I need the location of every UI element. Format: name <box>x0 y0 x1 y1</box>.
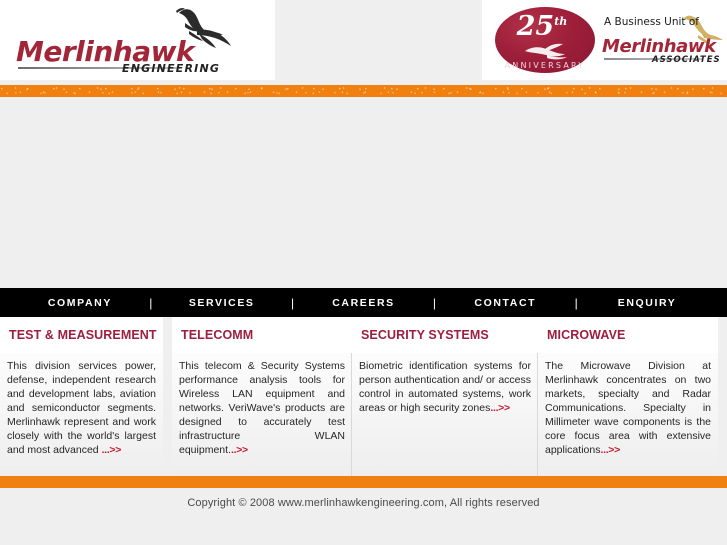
division-description: This telecom & Security Systems performa… <box>172 353 352 476</box>
read-more-link[interactable]: ...>> <box>490 402 510 414</box>
banner-area <box>0 97 727 288</box>
division-description: This division services power, defense, i… <box>0 353 163 476</box>
read-more-link[interactable]: ...>> <box>600 444 620 456</box>
division-description: Biometric identification systems for per… <box>352 353 538 476</box>
division-card-telecomm[interactable]: TELECOMM This telecom & Security Systems… <box>172 317 352 476</box>
nav-separator: | <box>571 296 581 310</box>
main-navigation: COMPANY | SERVICES | CAREERS | CONTACT |… <box>0 288 727 317</box>
division-description: The Microwave Division at Merlinhawk con… <box>538 353 718 476</box>
division-card-security-systems[interactable]: SECURITY SYSTEMS Biometric identificatio… <box>352 317 538 476</box>
division-text: This telecom & Security Systems performa… <box>179 360 345 456</box>
merlinhawk-associates-logo[interactable]: 25th ANNIVERSARY <box>482 0 727 80</box>
copyright-text: Copyright © 2008 www.merlinhawkengineeri… <box>0 488 727 509</box>
division-title: SECURITY SYSTEMS <box>352 317 538 353</box>
column-gap <box>163 317 172 476</box>
page-header: Merlinhawk ENGINEERING 25th ANNIVERSARY <box>0 0 727 85</box>
read-more-link[interactable]: ..>> <box>231 444 248 456</box>
nav-separator: | <box>146 296 156 310</box>
top-orange-divider <box>0 85 727 97</box>
nav-separator: | <box>288 296 298 310</box>
division-title: TELECOMM <box>172 317 352 353</box>
business-unit-text: A Business Unit of <box>604 16 699 28</box>
nav-item-contact[interactable]: CONTACT <box>439 297 571 309</box>
division-wordmark: ENGINEERING <box>122 62 220 75</box>
anniversary-number: 25th <box>517 13 568 40</box>
nav-item-careers[interactable]: CAREERS <box>298 297 430 309</box>
bottom-orange-divider <box>0 476 727 488</box>
division-title: TEST & MEASUREMENT <box>0 317 163 353</box>
nav-item-enquiry[interactable]: ENQUIRY <box>581 297 713 309</box>
anniversary-label: ANNIVERSARY <box>495 61 595 70</box>
read-more-link[interactable]: ...>> <box>102 444 122 456</box>
nav-separator: | <box>429 296 439 310</box>
division-title: MICROWAVE <box>538 317 718 353</box>
nav-item-services[interactable]: SERVICES <box>156 297 288 309</box>
merlinhawk-engineering-logo[interactable]: Merlinhawk ENGINEERING <box>0 0 275 80</box>
anniversary-ordinal: th <box>554 15 567 28</box>
page-footer: Copyright © 2008 www.merlinhawkengineeri… <box>0 488 727 541</box>
division-columns: TEST & MEASUREMENT This division service… <box>0 317 727 476</box>
anniversary-badge: 25th ANNIVERSARY <box>495 7 595 73</box>
division-text: The Microwave Division at Merlinhawk con… <box>545 360 711 456</box>
associates-division-wordmark: ASSOCIATES <box>652 55 721 65</box>
division-card-microwave[interactable]: MICROWAVE The Microwave Division at Merl… <box>538 317 718 476</box>
associates-brand-wordmark: Merlinhawk <box>602 36 716 57</box>
division-text: This division services power, defense, i… <box>7 360 156 456</box>
division-card-test-measurement[interactable]: TEST & MEASUREMENT This division service… <box>0 317 163 476</box>
nav-item-company[interactable]: COMPANY <box>14 297 146 309</box>
